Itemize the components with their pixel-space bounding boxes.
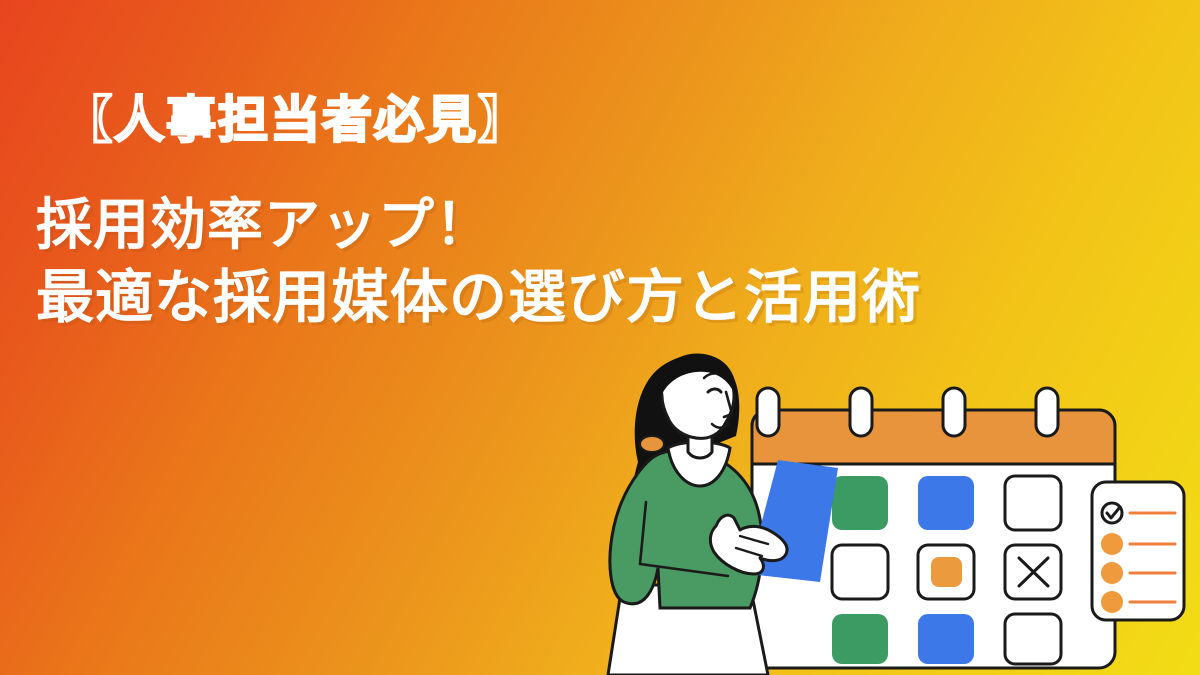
promo-banner: 【人事担当者必見】 採用効率アップ！ 最適な採用媒体の選び方と活用術 (0, 0, 1200, 675)
calendar-ring (943, 388, 965, 436)
calendar-tile-blue (918, 476, 974, 530)
calendar-ring (757, 388, 779, 436)
calendar-ring (1036, 388, 1058, 436)
calendar-tile-empty (1005, 614, 1061, 664)
banner-kicker: 【人事担当者必見】 (62, 95, 530, 145)
banner-headline: 採用効率アップ！ 最適な採用媒体の選び方と活用術 (36, 190, 921, 334)
headline-line-2: 最適な採用媒体の選び方と活用術 (36, 261, 921, 334)
calendar-header-band (752, 410, 1115, 464)
checklist-dot (1101, 591, 1123, 613)
calendar-tile-orange (931, 557, 962, 587)
calendar-tile-green (832, 614, 888, 664)
illustration-woman-calendar (600, 340, 1200, 675)
calendar-tile-blue (918, 614, 974, 664)
calendar-tile-empty (1005, 476, 1061, 530)
person-hair-tie (640, 436, 664, 452)
calendar-tile-empty (832, 545, 888, 599)
headline-line-1: 採用効率アップ！ (36, 193, 492, 256)
checklist-dot (1101, 533, 1123, 555)
checklist-dot (1101, 562, 1123, 584)
calendar-tile-green (832, 476, 888, 530)
checklist-card (1092, 482, 1184, 620)
calendar-ring (850, 388, 872, 436)
